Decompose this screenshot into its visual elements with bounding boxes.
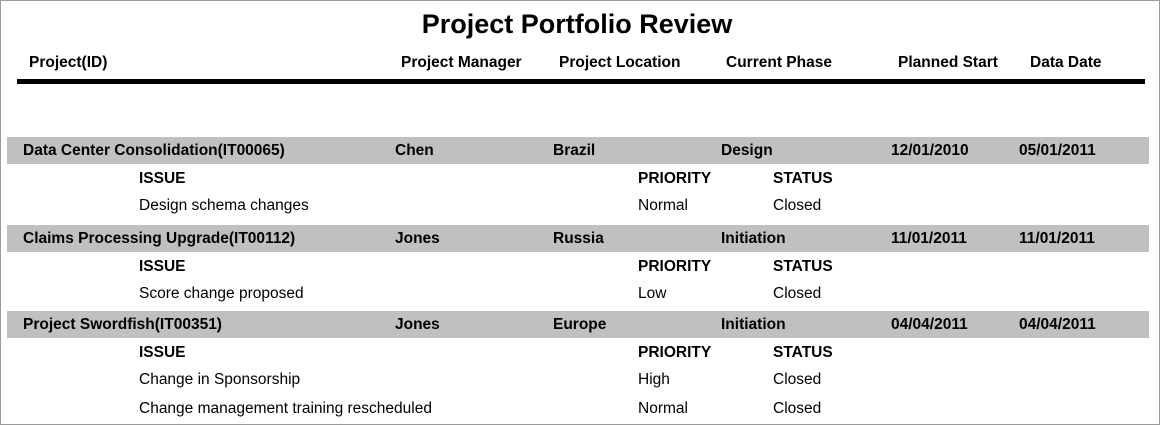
issue-status: Closed — [773, 284, 821, 304]
project-current-phase: Initiation — [721, 315, 786, 334]
project-name: Project Swordfish(IT00351) — [23, 315, 222, 334]
issue-header-row: ISSUE PRIORITY STATUS — [1, 252, 1153, 280]
project-planned-start: 12/01/2010 — [891, 141, 969, 160]
project-location: Russia — [553, 229, 604, 248]
report-page: Project Portfolio Review Project(ID) Pro… — [0, 0, 1160, 425]
issue-description: Change management training rescheduled — [139, 399, 432, 419]
issue-column-header-issue: ISSUE — [139, 343, 186, 363]
project-group: Project Swordfish(IT00351) Jones Europe … — [1, 311, 1153, 424]
page-title: Project Portfolio Review — [1, 7, 1153, 41]
issue-column-header-priority: PRIORITY — [638, 257, 711, 277]
table-row[interactable]: Change management training rescheduled N… — [1, 395, 1153, 424]
project-name: Claims Processing Upgrade(IT00112) — [23, 229, 295, 248]
project-group: Claims Processing Upgrade(IT00112) Jones… — [1, 225, 1153, 309]
project-data-date: 04/04/2011 — [1019, 315, 1096, 334]
table-row[interactable]: Design schema changes Normal Closed — [1, 192, 1153, 221]
issue-header-row: ISSUE PRIORITY STATUS — [1, 164, 1153, 192]
issue-priority: Normal — [638, 399, 688, 419]
project-manager: Jones — [395, 229, 440, 248]
issue-description: Change in Sponsorship — [139, 370, 300, 390]
issue-table: ISSUE PRIORITY STATUS Design schema chan… — [1, 164, 1153, 221]
issue-column-header-priority: PRIORITY — [638, 169, 711, 189]
issue-priority: High — [638, 370, 670, 390]
project-location: Europe — [553, 315, 606, 334]
table-row[interactable]: Change in Sponsorship High Closed — [1, 366, 1153, 395]
project-summary-row[interactable]: Project Swordfish(IT00351) Jones Europe … — [7, 311, 1149, 338]
project-manager: Chen — [395, 141, 434, 160]
issue-table: ISSUE PRIORITY STATUS Change in Sponsors… — [1, 338, 1153, 424]
project-planned-start: 11/01/2011 — [891, 229, 967, 248]
project-summary-row[interactable]: Claims Processing Upgrade(IT00112) Jones… — [7, 225, 1149, 252]
column-header-project: Project(ID) — [29, 53, 107, 73]
issue-column-header-status: STATUS — [773, 169, 833, 189]
issue-priority: Low — [638, 284, 666, 304]
project-planned-start: 04/04/2011 — [891, 315, 968, 334]
issue-status: Closed — [773, 196, 821, 216]
issue-column-header-status: STATUS — [773, 343, 833, 363]
issue-column-header-status: STATUS — [773, 257, 833, 277]
project-manager: Jones — [395, 315, 440, 334]
issue-description: Design schema changes — [139, 196, 309, 216]
project-data-date: 05/01/2011 — [1019, 141, 1096, 160]
issue-status: Closed — [773, 399, 821, 419]
issue-description: Score change proposed — [139, 284, 304, 304]
project-data-date: 11/01/2011 — [1019, 229, 1095, 248]
issue-status: Closed — [773, 370, 821, 390]
project-location: Brazil — [553, 141, 595, 160]
table-row[interactable]: Score change proposed Low Closed — [1, 280, 1153, 309]
issue-column-header-priority: PRIORITY — [638, 343, 711, 363]
project-summary-row[interactable]: Data Center Consolidation(IT00065) Chen … — [7, 137, 1149, 164]
column-header-row: Project(ID) Project Manager Project Loca… — [1, 53, 1153, 75]
project-current-phase: Design — [721, 141, 773, 160]
column-header-project-location: Project Location — [559, 53, 680, 73]
header-divider-rule — [17, 79, 1145, 84]
column-header-planned-start: Planned Start — [898, 53, 998, 73]
column-header-data-date: Data Date — [1030, 53, 1102, 73]
project-group: Data Center Consolidation(IT00065) Chen … — [1, 137, 1153, 221]
project-name: Data Center Consolidation(IT00065) — [23, 141, 285, 160]
issue-column-header-issue: ISSUE — [139, 169, 186, 189]
column-header-current-phase: Current Phase — [726, 53, 832, 73]
issue-priority: Normal — [638, 196, 688, 216]
issue-table: ISSUE PRIORITY STATUS Score change propo… — [1, 252, 1153, 309]
project-current-phase: Initiation — [721, 229, 786, 248]
column-header-project-manager: Project Manager — [401, 53, 522, 73]
issue-column-header-issue: ISSUE — [139, 257, 186, 277]
issue-header-row: ISSUE PRIORITY STATUS — [1, 338, 1153, 366]
